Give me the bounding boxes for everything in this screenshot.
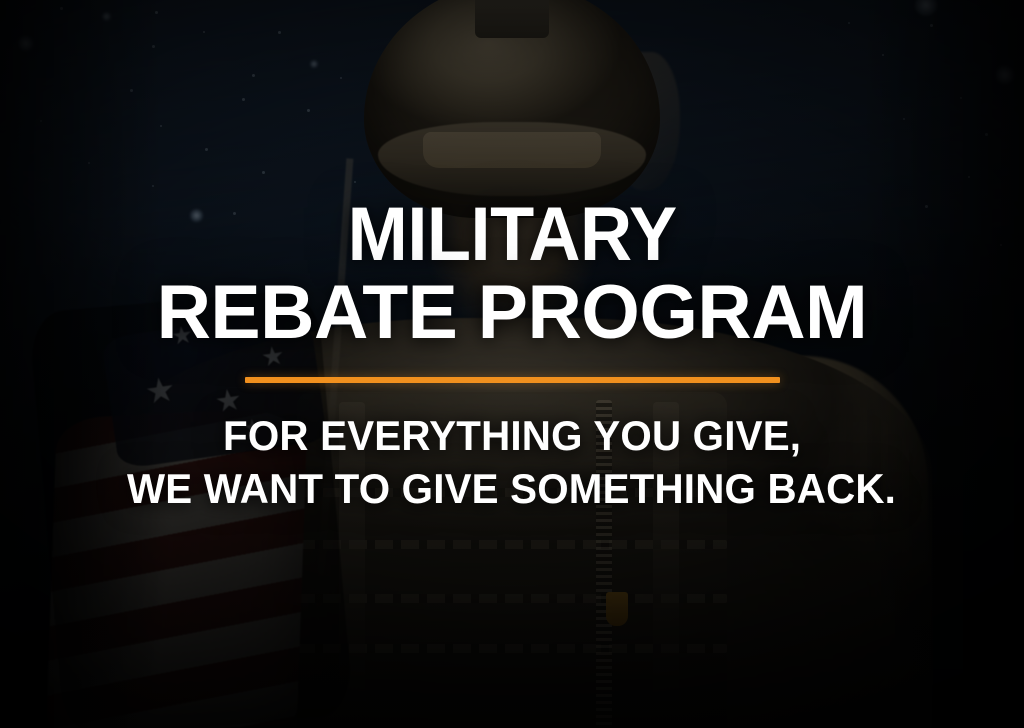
subheadline-line-2: WE WANT TO GIVE SOMETHING BACK. [127,464,896,514]
headline-line-2: REBATE PROGRAM [157,276,868,350]
headline-line-1: MILITARY [347,198,676,272]
banner-content: MILITARY REBATE PROGRAM FOR EVERYTHING Y… [0,0,1024,728]
military-rebate-banner: ★ ★ ★ ★ ★ MILITARY REBATE PROGRAM FOR EV… [0,0,1024,728]
subheadline-line-1: FOR EVERYTHING YOU GIVE, [223,411,801,461]
orange-divider [245,377,780,383]
